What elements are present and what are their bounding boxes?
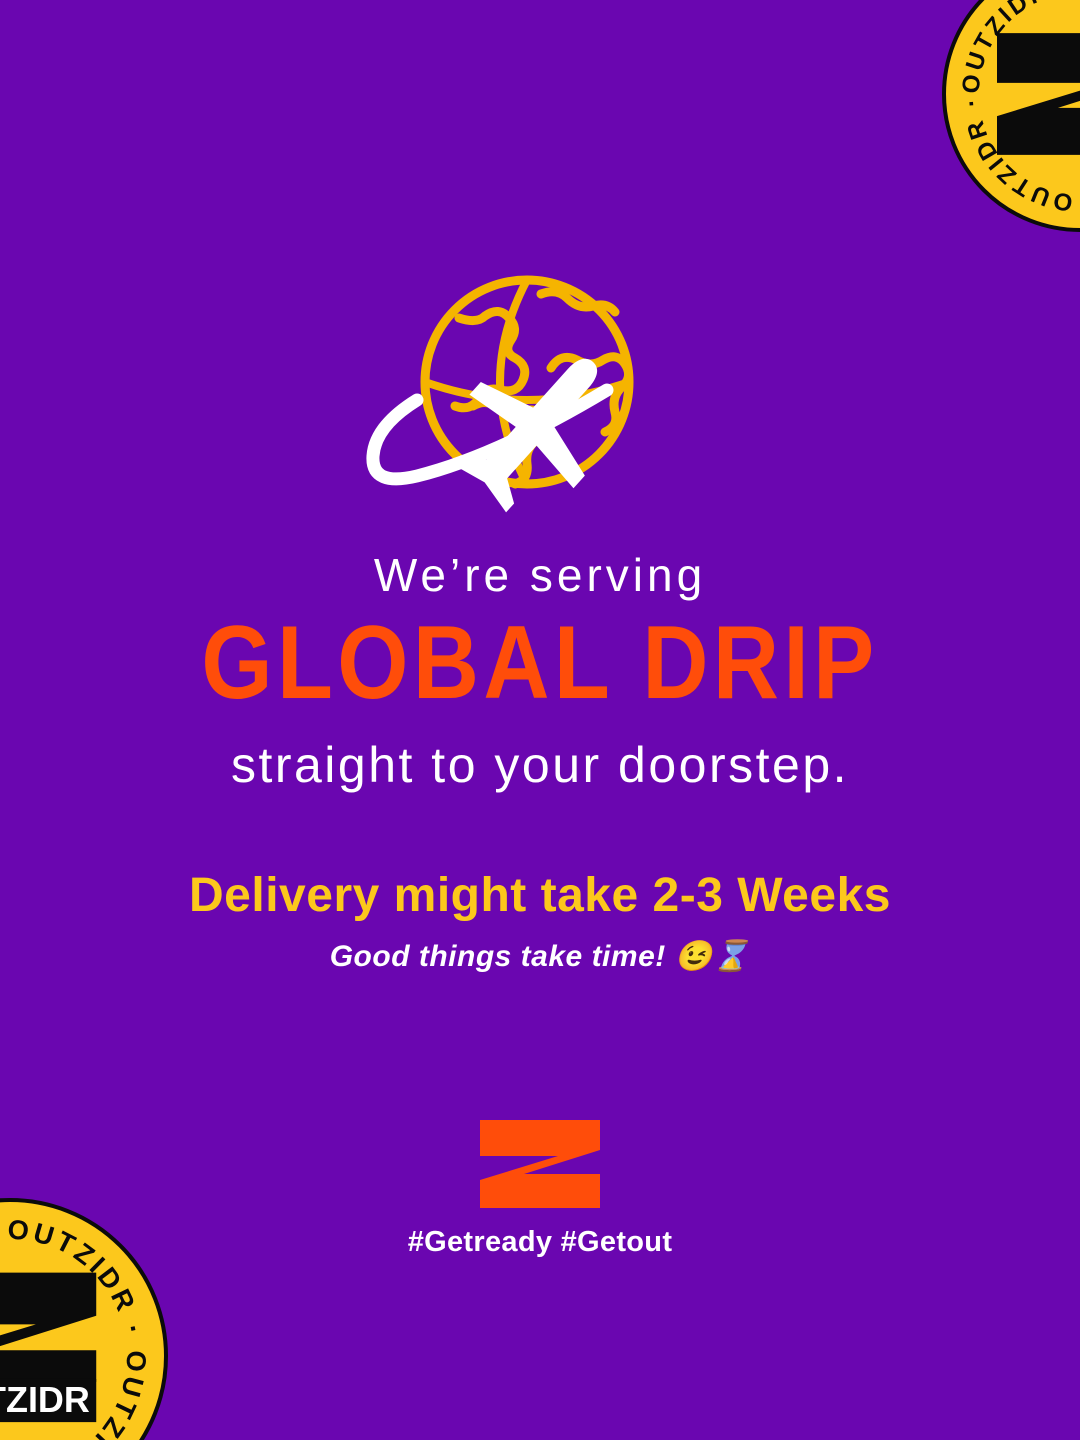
copy-block: We’re serving GLOBAL DRIP straight to yo… — [0, 548, 1080, 975]
outzidr-z-logo — [478, 1118, 602, 1210]
headline: GLOBAL DRIP — [65, 616, 1015, 712]
badge-wordmark: OUTZIDR — [0, 1379, 90, 1420]
good-things-note: Good things take time! 😉⌛ — [0, 939, 1080, 975]
globe-airplane-icon — [355, 272, 715, 516]
outzidr-z-mark-top-right — [994, 19, 1080, 169]
serving-line: We’re serving — [0, 548, 1080, 602]
doorstep-line: straight to your doorstep. — [0, 736, 1080, 795]
outzidr-badge-top-right: OUTZIDR · OUTZIDR · OUTZIDR · OUTZIDR · — [942, 0, 1080, 232]
delivery-note: Delivery might take 2-3 Weeks — [0, 867, 1080, 925]
outzidr-badge-bottom-left: OUTZIDR · OUTZIDR · OUTZIDR · OUTZIDR · … — [0, 1198, 168, 1440]
promo-poster: We’re serving GLOBAL DRIP straight to yo… — [0, 0, 1080, 1440]
outzidr-z-wordmark-bottom-left: OUTZIDR — [0, 1270, 109, 1440]
